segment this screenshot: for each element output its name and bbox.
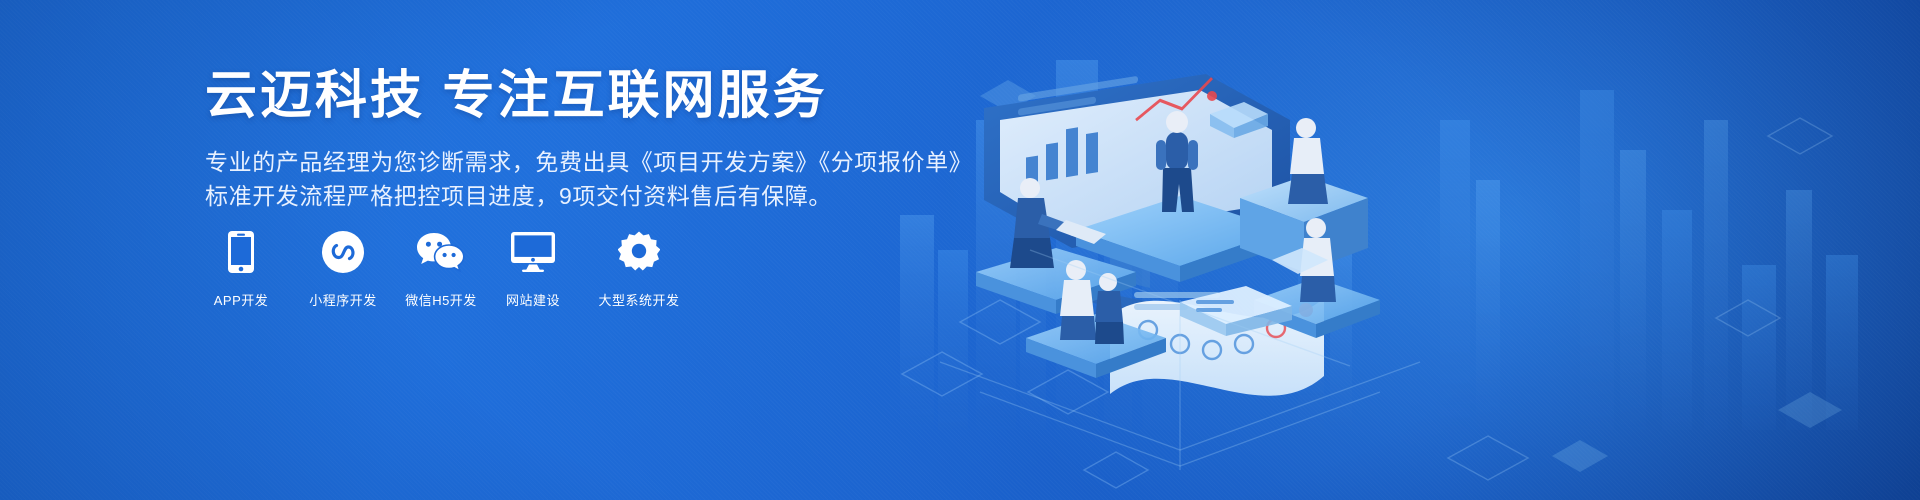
- service-label-mini-program: 小程序开发: [309, 290, 377, 309]
- mobile-phone-icon: [228, 230, 254, 274]
- service-label-website: 网站建设: [506, 290, 560, 309]
- wechat-icon: [416, 230, 466, 274]
- service-item-website[interactable]: 网站建设: [497, 230, 569, 309]
- service-label-large-system: 大型系统开发: [598, 290, 679, 309]
- service-item-app[interactable]: APP开发: [205, 230, 277, 309]
- hero-banner: 云迈科技 专注互联网服务 专业的产品经理为您诊断需求，免费出具《项目开发方案》《…: [0, 0, 1920, 500]
- hero-subtitle-line-1: 专业的产品经理为您诊断需求，免费出具《项目开发方案》《分项报价单》: [205, 145, 965, 179]
- service-label-wechat-h5: 微信H5开发: [405, 290, 477, 309]
- illustration-isometric-analytics: [880, 0, 1920, 500]
- hero-subtitle: 专业的产品经理为您诊断需求，免费出具《项目开发方案》《分项报价单》 标准开发流程…: [205, 145, 965, 213]
- gear-icon: [618, 230, 660, 274]
- service-list: APP开发 小程序开发 微信: [205, 230, 687, 309]
- page-title: 云迈科技 专注互联网服务: [205, 66, 965, 127]
- service-label-app: APP开发: [214, 290, 269, 309]
- monitor-icon: [511, 230, 555, 274]
- hero-copy: 云迈科技 专注互联网服务 专业的产品经理为您诊断需求，免费出具《项目开发方案》《…: [205, 66, 965, 213]
- service-item-mini-program[interactable]: 小程序开发: [301, 230, 385, 309]
- person-right-upper: [1288, 118, 1328, 204]
- hero-subtitle-line-2: 标准开发流程严格把控项目进度，9项交付资料售后有保障。: [205, 179, 965, 213]
- service-item-large-system[interactable]: 大型系统开发: [591, 230, 687, 309]
- mini-program-icon: [322, 230, 364, 274]
- service-item-wechat-h5[interactable]: 微信H5开发: [399, 230, 483, 309]
